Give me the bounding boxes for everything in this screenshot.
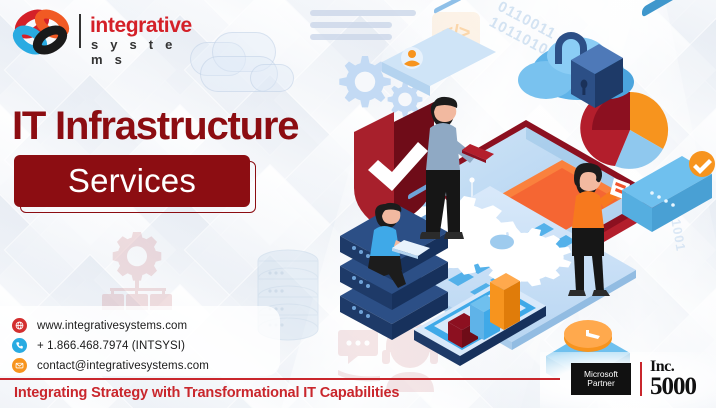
- logo-divider: [79, 14, 81, 48]
- isometric-it-illustration: [330, 0, 716, 380]
- microsoft-partner-line2: Partner: [587, 379, 614, 388]
- contact-row-website[interactable]: www.integrativesystems.com: [12, 318, 187, 333]
- phone-icon: [12, 338, 27, 353]
- footer-divider: [0, 378, 560, 380]
- services-label: Services: [14, 155, 250, 207]
- footer-tagline: Integrating Strategy with Transformation…: [14, 385, 399, 401]
- contact-phone-text: + 1.866.468.7974 (INTSYSI): [37, 340, 185, 352]
- inc-5000-badge: Inc. 5000: [650, 359, 714, 399]
- interlocking-loops-logo-icon: [10, 8, 74, 56]
- badge-divider: [640, 362, 642, 396]
- logo-name-primary: integrative: [90, 14, 192, 38]
- id-badge-card: [382, 0, 496, 96]
- contact-website-text: www.integrativesystems.com: [37, 320, 187, 332]
- contact-email-text: contact@integrativesystems.com: [37, 360, 209, 372]
- network-server-gear-icon: [100, 230, 180, 310]
- cloud-lock-icon: [518, 32, 634, 108]
- logo-name-secondary: s y s t e m s: [91, 37, 190, 67]
- brand-logo[interactable]: integrative s y s t e m s: [10, 8, 190, 56]
- inc-5000-line2: 5000: [650, 375, 714, 399]
- globe-icon: [12, 318, 27, 333]
- contact-row-phone[interactable]: + 1.866.468.7974 (INTSYSI): [12, 338, 185, 353]
- page-title: IT Infrastructure: [12, 104, 298, 149]
- envelope-icon: [12, 358, 27, 373]
- microsoft-partner-badge: Microsoft Partner: [571, 363, 631, 395]
- contact-row-email[interactable]: contact@integrativesystems.com: [12, 358, 209, 373]
- it-infrastructure-services-banner: </> 0110011 10110101 1001 1011001: [0, 0, 716, 408]
- cloud-outline-icon: [190, 30, 310, 96]
